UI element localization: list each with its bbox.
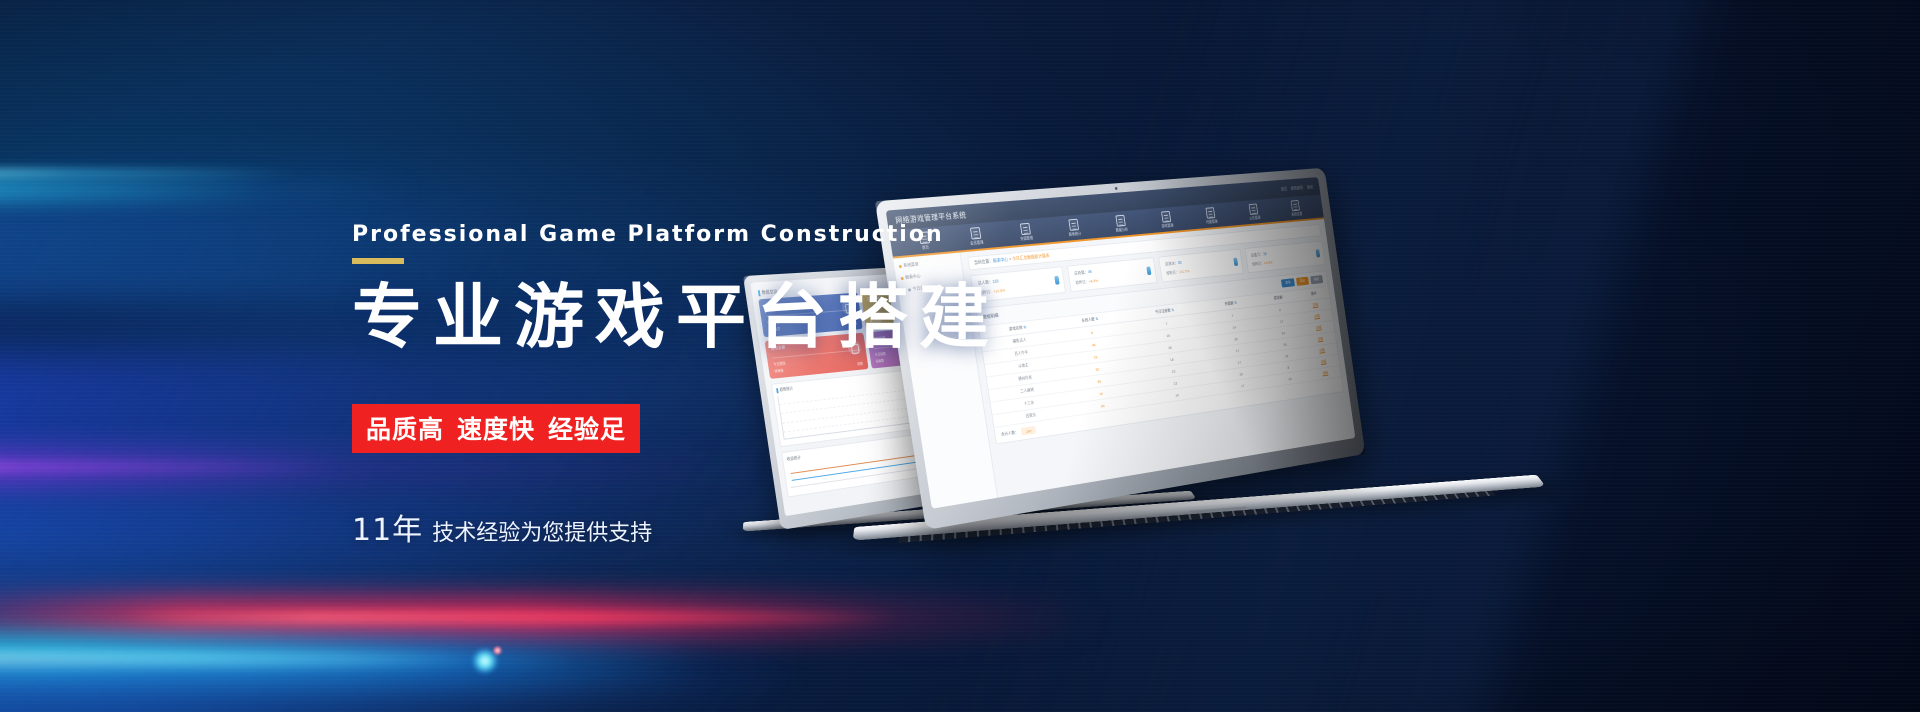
chart-icon [1115,215,1125,227]
cyan-beam-main [0,636,800,690]
header-link-password[interactable]: 修改密码 [1290,185,1303,191]
panel-buttons: 查询 导出 刷新 [1281,275,1323,287]
box-icon [1161,211,1171,223]
header-actions: 首页 修改密码 退出 [1280,184,1313,192]
page-title: 专业游戏平台搭建 [352,280,1052,356]
header-link-logout[interactable]: 退出 [1306,184,1313,190]
grid-icon [1249,203,1259,214]
stat-value: 46 [1088,269,1093,274]
refresh-button[interactable]: 刷新 [1310,275,1323,284]
chart-icon [1316,249,1321,257]
years-caption: 技术经验为您提供支持 [432,521,652,546]
query-button[interactable]: 查询 [1281,278,1294,287]
header-link-home[interactable]: 首页 [1280,186,1287,192]
cyan-beam-upper-core [0,168,300,178]
report-icon [1068,219,1079,231]
toolbar-item-analytics[interactable]: 数据分析 [1096,213,1145,235]
toolbar-item-notices[interactable]: 公告管理 [1231,202,1276,223]
gold-rule-divider [352,258,404,264]
toolbar-label: 代理管理 [1190,218,1234,226]
toolbar-label: 系统设置 [1276,211,1318,219]
toolbar-label: 游戏管理 [1145,222,1191,231]
blue-plate-bottom [0,664,820,712]
stat-label: 总充值： [1074,269,1088,275]
cyan-beam-main-core [0,652,580,668]
cyan-beam-upper [0,176,420,202]
glow-dot [472,648,498,674]
toolbar-item-agents[interactable]: 代理管理 [1188,206,1234,227]
chart-icon [1233,258,1238,266]
stat-sub-label: 较昨日： [1075,279,1089,285]
glow-dot-small [493,646,502,655]
experience-subline: 11年技术经验为您提供支持 [352,505,1052,549]
chart-icon [1055,276,1060,285]
stat-label: 总流水： [1165,260,1179,266]
stat-card[interactable]: 总充值：46 较昨日：+8.3% [1067,257,1157,292]
stat-card[interactable]: 总盈亏：35 较昨日：+5.9% [1245,240,1326,273]
toolbar-item-games[interactable]: 游戏管理 [1143,209,1191,230]
toolbar-label: 公告管理 [1233,214,1276,222]
badge-part-1: 品质高 [366,415,444,444]
toolbar-item-reports[interactable]: 报表统计 [1049,217,1099,239]
stat-sub-value: +8.3% [1088,278,1098,284]
chart-icon [1146,266,1151,275]
stat-value: 35 [1263,251,1267,256]
camera-icon [1115,187,1118,190]
stat-card[interactable]: 总流水：92 较昨日：+21.7% [1158,249,1243,283]
badge-part-2: 速度快 [457,415,535,444]
eyebrow-text: Professional Game Platform Construction [352,222,1052,247]
stat-sub-label: 较昨日： [1252,261,1264,267]
stat-value: 92 [1178,260,1182,265]
list-icon [1206,207,1216,219]
headline-copy-block: Professional Game Platform Construction … [352,222,1052,549]
stat-sub-value: +5.9% [1264,260,1273,265]
stat-label: 总盈亏： [1251,252,1264,258]
gear-icon [1291,200,1300,211]
badge-part-3: 经验足 [548,415,626,444]
purple-beam-core [0,462,340,472]
toolbar-label: 报表统计 [1051,230,1099,239]
promo-banner: Professional Game Platform Construction … [0,0,1920,712]
toolbar-item-settings[interactable]: 系统设置 [1274,199,1318,219]
toolbar-label: 数据分析 [1098,226,1145,235]
stat-sub-label: 较昨日： [1166,270,1179,276]
export-button[interactable]: 导出 [1296,277,1309,286]
stat-sub-value: +21.7% [1178,268,1189,274]
status-badge: 品质高速度快经验足 [352,404,640,453]
years-value: 11年 [352,513,423,548]
